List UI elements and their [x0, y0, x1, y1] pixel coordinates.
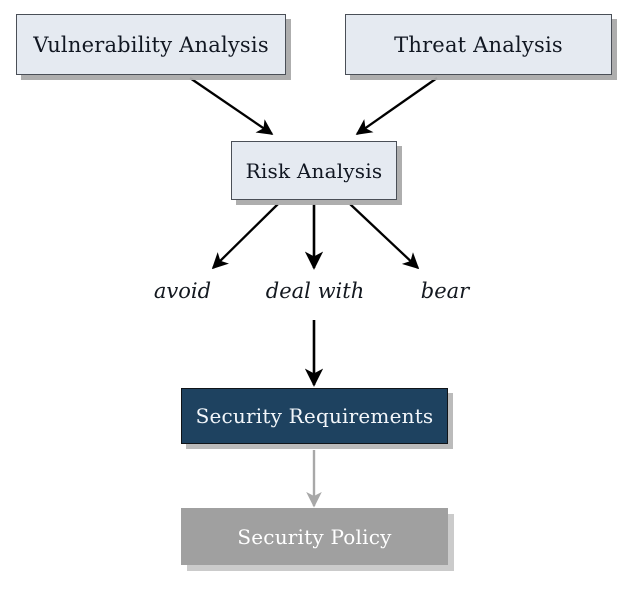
- edge-threat-to-risk: [357, 78, 437, 134]
- node-risk-analysis[interactable]: Risk Analysis: [231, 141, 397, 200]
- edge-label-bear: bear: [390, 279, 500, 303]
- node-vulnerability-analysis-label: Vulnerability Analysis: [33, 33, 269, 57]
- node-risk-analysis-label: Risk Analysis: [246, 159, 383, 183]
- edge-label-avoid: avoid: [125, 279, 240, 303]
- node-security-policy[interactable]: Security Policy: [181, 508, 448, 565]
- diagram-canvas: Vulnerability Analysis Threat Analysis R…: [0, 0, 638, 595]
- node-threat-analysis-label: Threat Analysis: [394, 33, 563, 57]
- edge-vulnerability-to-risk: [190, 78, 272, 134]
- edge-label-deal-with: deal with: [255, 279, 375, 303]
- node-security-requirements[interactable]: Security Requirements: [181, 388, 448, 444]
- edge-risk-to-bear: [350, 204, 418, 268]
- node-threat-analysis[interactable]: Threat Analysis: [345, 14, 612, 75]
- node-security-policy-label: Security Policy: [237, 525, 391, 549]
- node-vulnerability-analysis[interactable]: Vulnerability Analysis: [16, 14, 286, 75]
- edge-risk-to-avoid: [213, 204, 278, 268]
- node-security-requirements-label: Security Requirements: [196, 404, 434, 428]
